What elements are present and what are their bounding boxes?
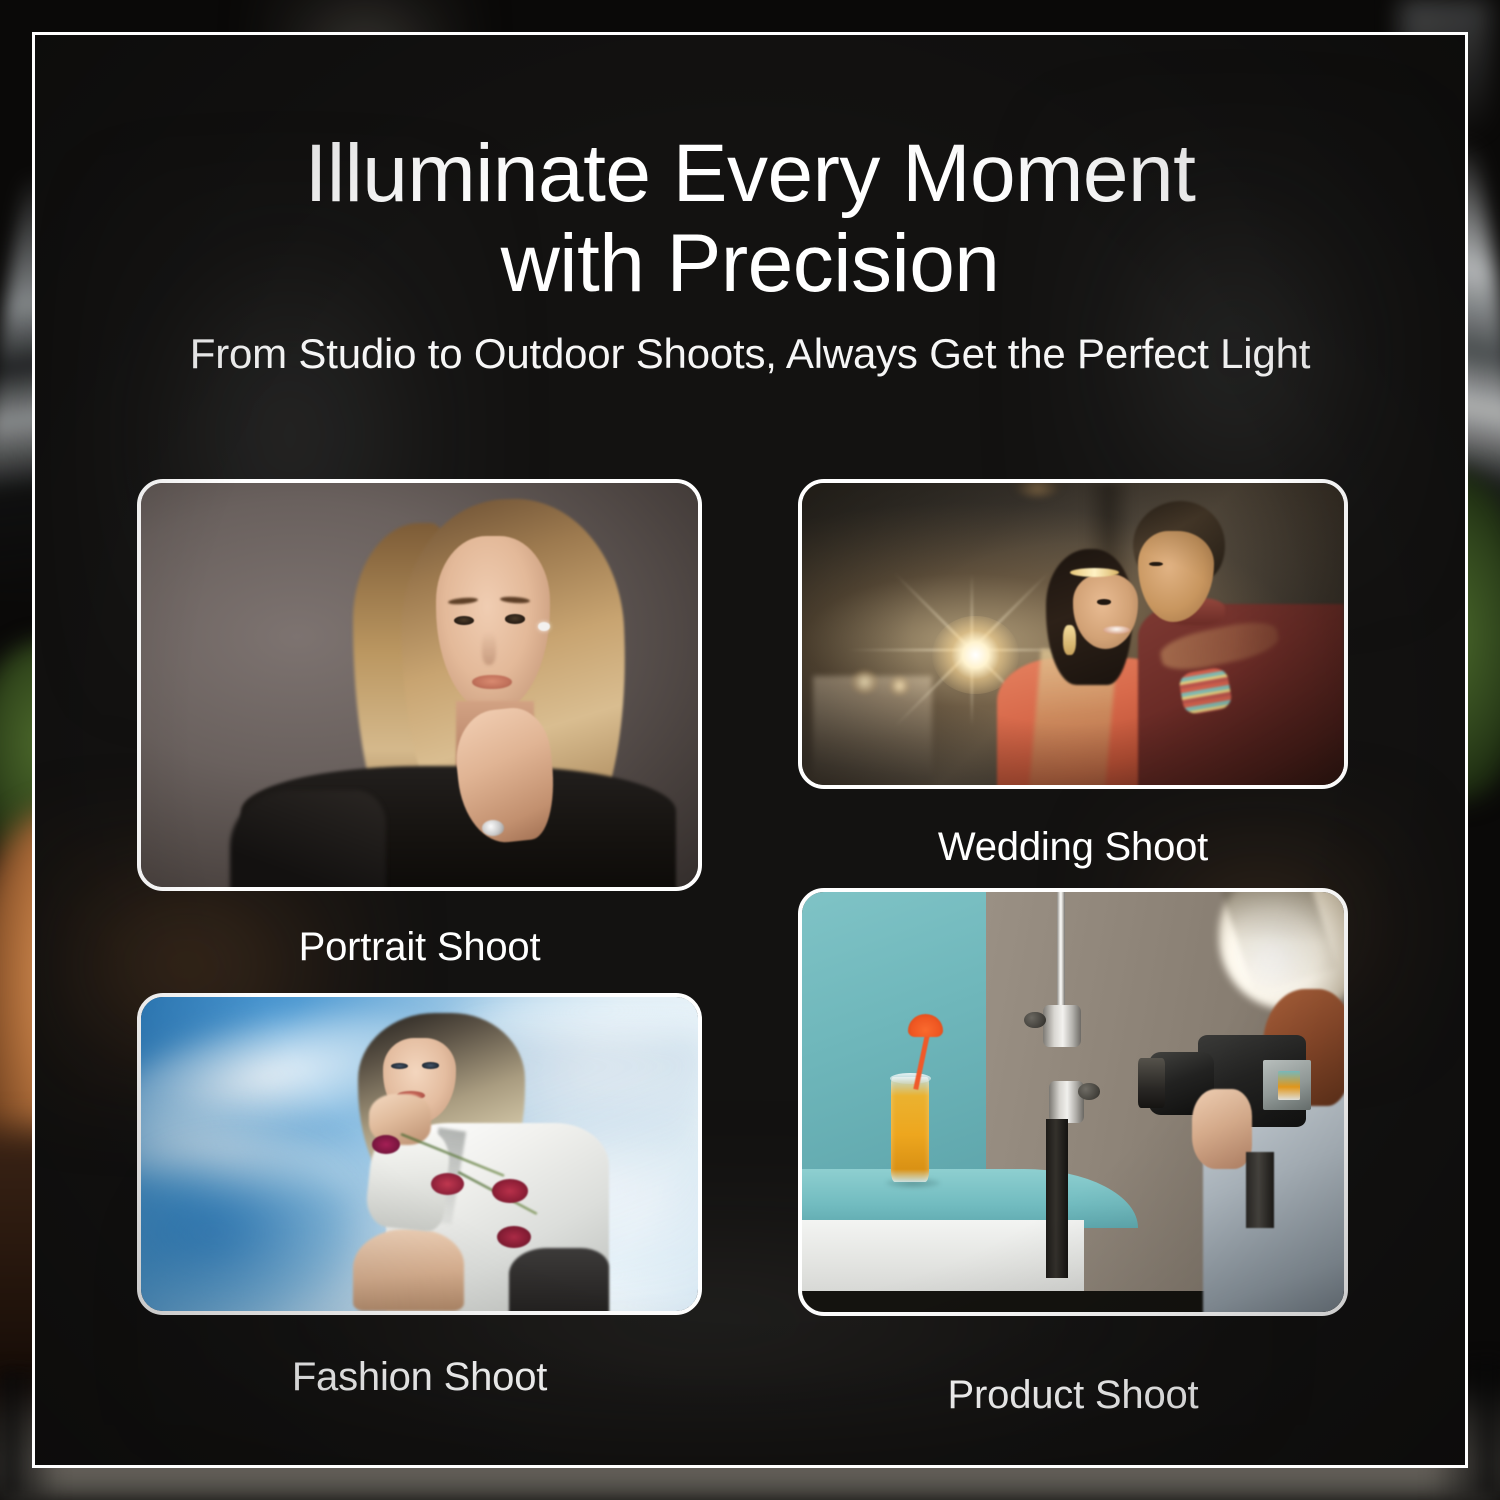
card-wedding-shoot[interactable] — [798, 479, 1348, 789]
product-lens-hood — [1138, 1058, 1165, 1108]
product-stand-knob-lower — [1078, 1083, 1100, 1100]
poster-content: Illuminate Every Moment with Precision F… — [35, 35, 1465, 1465]
fashion-flower-1 — [372, 1135, 400, 1154]
card-fashion-shoot[interactable] — [137, 993, 702, 1315]
product-photographer-hand — [1192, 1089, 1252, 1169]
caption-product-shoot: Product Shoot — [798, 1373, 1348, 1418]
caption-fashion-shoot: Fashion Shoot — [137, 1355, 702, 1400]
product-tripod — [1246, 1152, 1273, 1228]
product-juice-glass — [891, 1077, 929, 1182]
fashion-flower-4 — [497, 1226, 530, 1248]
card-product-shoot[interactable] — [798, 888, 1348, 1316]
subtitle: From Studio to Outdoor Shoots, Always Ge… — [35, 330, 1465, 378]
wedding-vignette — [802, 483, 1344, 785]
caption-wedding-shoot: Wedding Shoot — [798, 825, 1348, 870]
card-portrait-shoot[interactable] — [137, 479, 702, 891]
poster-frame: Illuminate Every Moment with Precision F… — [32, 32, 1468, 1468]
fashion-tights — [509, 1248, 609, 1311]
fashion-flower-3 — [492, 1179, 528, 1203]
portrait-eye-left — [454, 616, 474, 625]
product-stand-clamp-upper — [1043, 1005, 1081, 1047]
fashion-eye-right — [422, 1062, 439, 1068]
fashion-flower-2 — [431, 1173, 464, 1195]
photo-product-shoot — [802, 892, 1344, 1312]
product-lcd-preview — [1278, 1071, 1300, 1100]
product-stand-column — [1046, 1119, 1068, 1279]
photo-wedding-shoot — [802, 483, 1344, 785]
portrait-nose — [482, 632, 496, 664]
poster-stage: Illuminate Every Moment with Precision F… — [0, 0, 1500, 1500]
photo-portrait-shoot — [141, 483, 698, 887]
caption-portrait-shoot: Portrait Shoot — [137, 925, 702, 970]
photo-fashion-shoot — [141, 997, 698, 1311]
portrait-eye-right — [505, 614, 525, 623]
fashion-leg — [353, 1229, 464, 1311]
portrait-sleeve — [230, 790, 386, 887]
headline: Illuminate Every Moment with Precision — [35, 129, 1465, 309]
